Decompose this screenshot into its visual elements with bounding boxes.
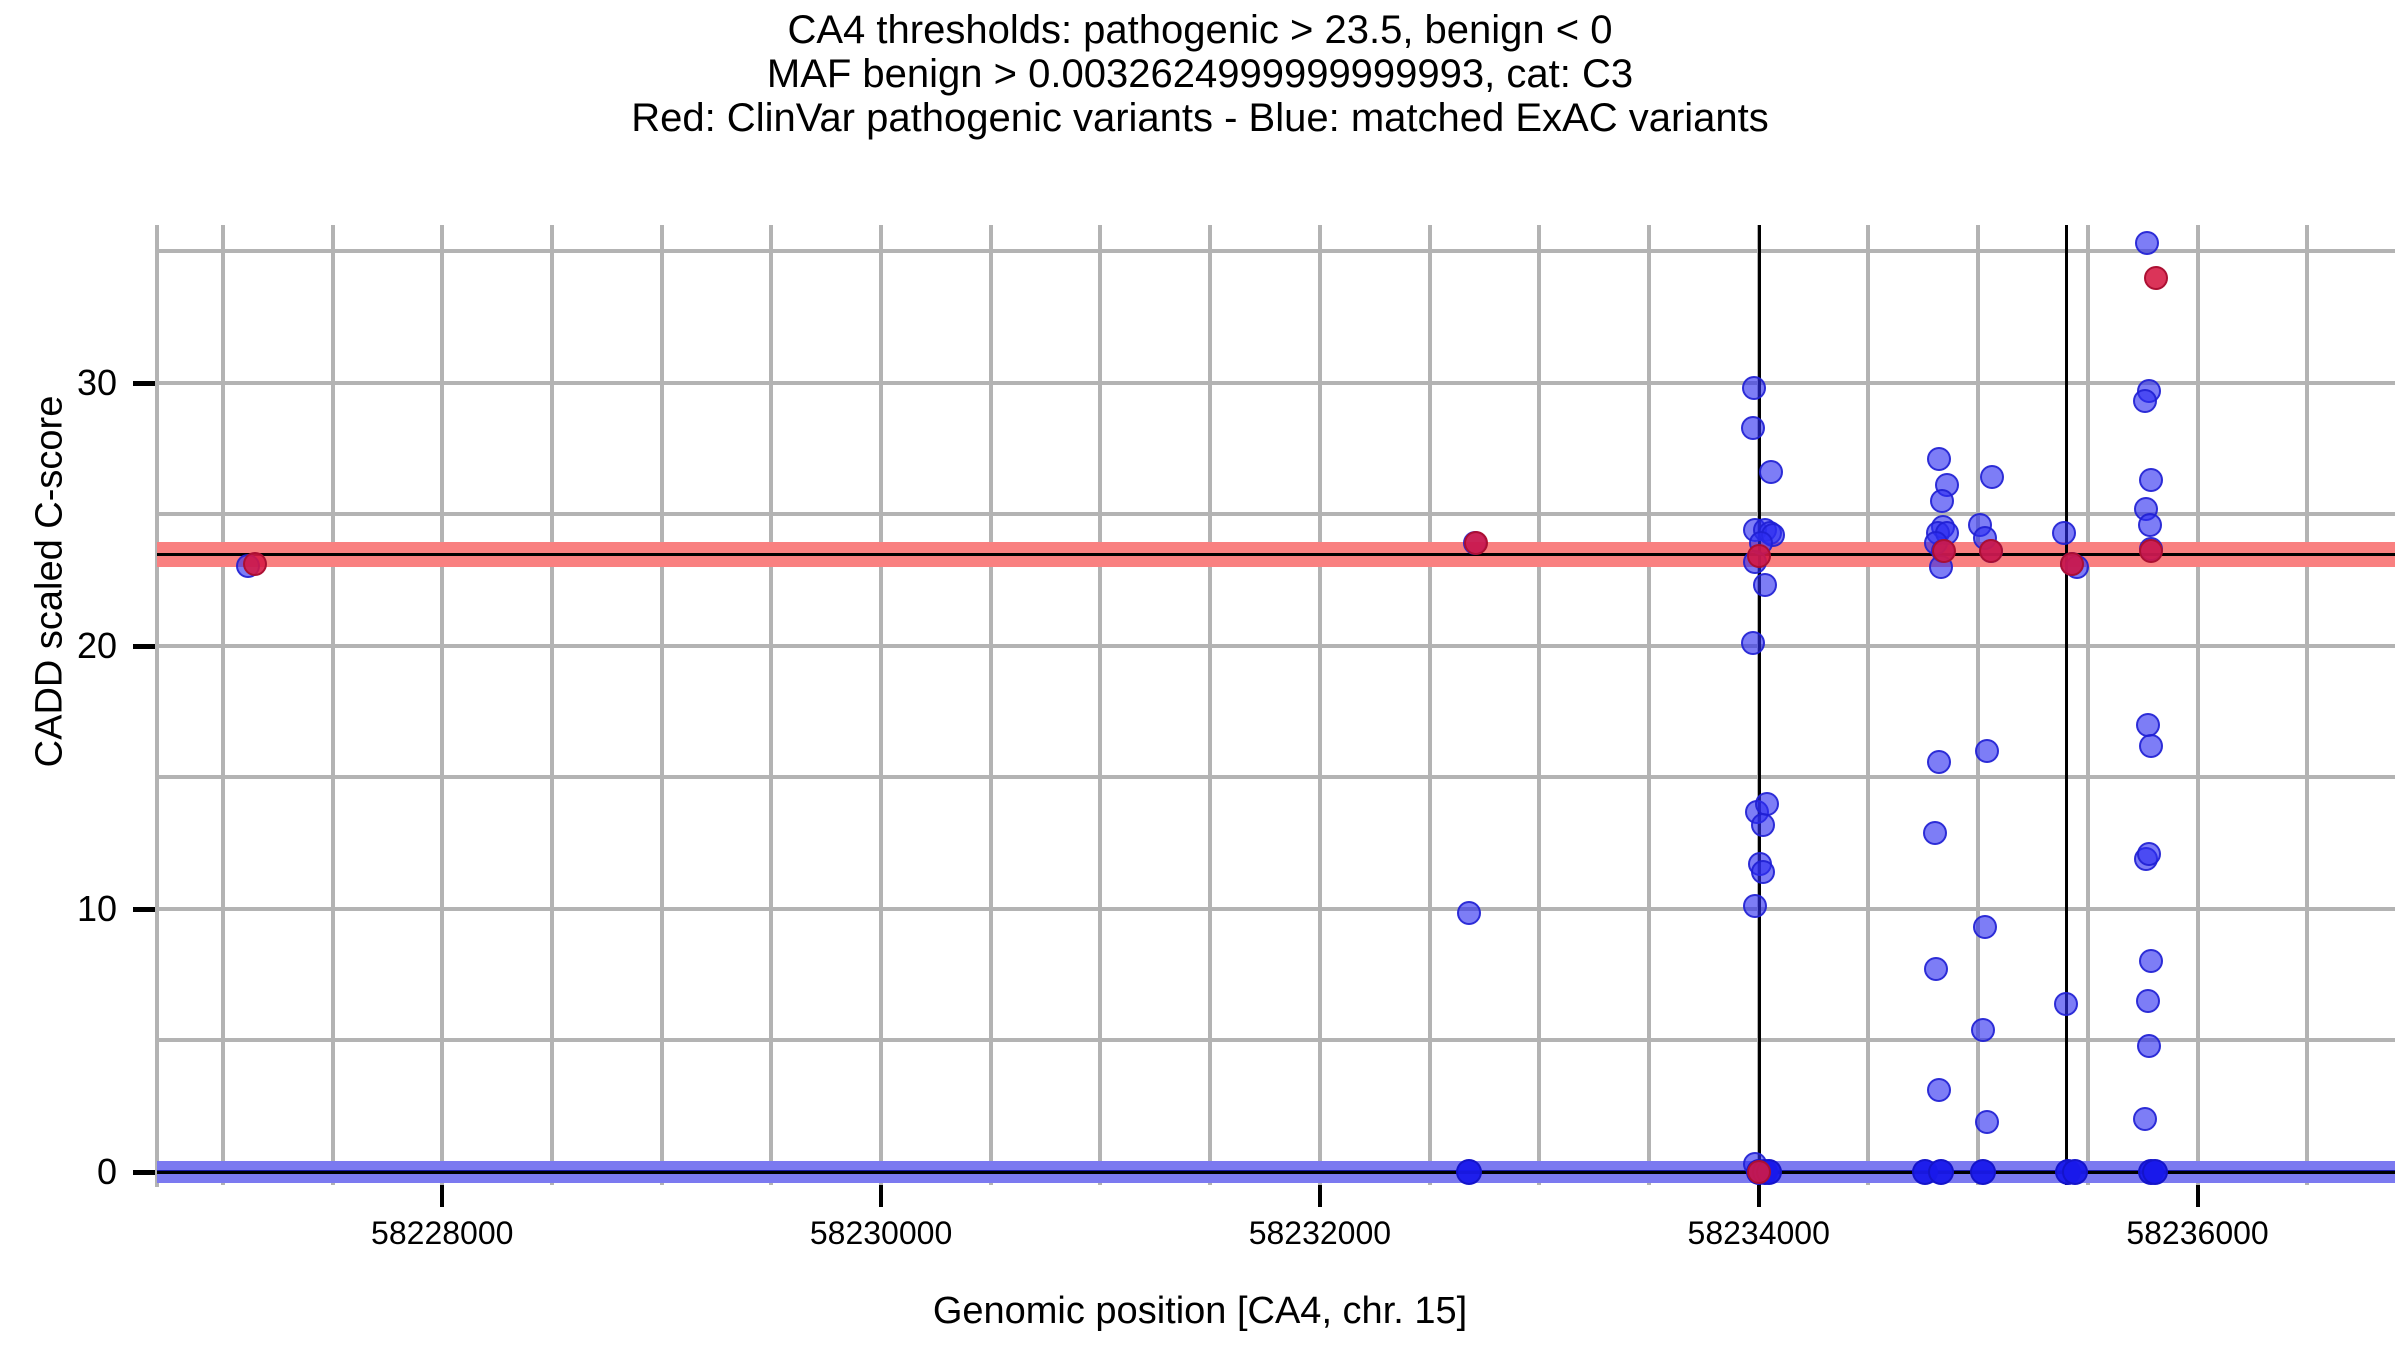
title-line-2: MAF benign > 0.0032624999999999993, cat:… xyxy=(0,52,2400,96)
exac-point xyxy=(1924,957,1948,981)
exac-point xyxy=(1753,573,1777,597)
pathogenic-point xyxy=(1747,1160,1771,1184)
x-tick-label-58230000: 58230000 xyxy=(721,1217,1041,1249)
exac-point xyxy=(1759,460,1783,484)
x-tick-mark-58234000 xyxy=(1757,1185,1761,1207)
exac-point xyxy=(1930,489,1954,513)
x-tick-label-58228000: 58228000 xyxy=(282,1217,602,1249)
x-tick-label-58234000: 58234000 xyxy=(1599,1217,1919,1249)
x-axis-label: Genomic position [CA4, chr. 15] xyxy=(0,1290,2400,1333)
exac-point xyxy=(1928,1159,1954,1185)
y-tick-mark-10 xyxy=(133,907,155,912)
pathogenic-point xyxy=(2144,266,2168,290)
gridline-v-58231000 xyxy=(1098,225,1102,1185)
gridline-v-58228000 xyxy=(440,225,444,1185)
exac-point xyxy=(2138,513,2162,537)
exac-point xyxy=(1971,1018,1995,1042)
y-tick-label-0: 0 xyxy=(0,1154,117,1190)
exac-point xyxy=(2139,949,2163,973)
plot-area xyxy=(157,225,2395,1185)
exac-point xyxy=(2142,1159,2168,1185)
gridline-h-30 xyxy=(157,381,2395,385)
exac-point xyxy=(1927,750,1951,774)
gridline-h-25 xyxy=(157,512,2395,516)
exac-point xyxy=(1457,901,1481,925)
exac-point xyxy=(2054,992,2078,1016)
x-tick-mark-58228000 xyxy=(440,1185,444,1207)
x-tick-mark-58230000 xyxy=(879,1185,883,1207)
exac-point xyxy=(2137,1034,2161,1058)
exac-point xyxy=(1741,631,1765,655)
gridline-h-10 xyxy=(157,907,2395,911)
gridline-v-58233500 xyxy=(1647,225,1651,1185)
exac-point xyxy=(1980,465,2004,489)
x-tick-mark-58236000 xyxy=(2196,1185,2200,1207)
exac-point xyxy=(1975,1110,1999,1134)
exac-point xyxy=(2133,1107,2157,1131)
exac-point xyxy=(1743,894,1767,918)
gridline-v-58230500 xyxy=(989,225,993,1185)
gridline-v-58235500 xyxy=(2086,225,2090,1185)
y-tick-mark-20 xyxy=(133,644,155,649)
exac-point xyxy=(2136,989,2160,1013)
y-tick-mark-30 xyxy=(133,381,155,386)
y-axis-label: CADD scaled C-score xyxy=(29,202,72,962)
exac-point xyxy=(2052,521,2076,545)
pathogenic-point xyxy=(243,552,267,576)
gridline-v-58232500 xyxy=(1428,225,1432,1185)
exac-point xyxy=(1456,1159,1482,1185)
gridline-h-35 xyxy=(157,249,2395,253)
exac-point xyxy=(2139,734,2163,758)
exac-point xyxy=(1975,739,1999,763)
exac-point xyxy=(2136,713,2160,737)
exac-point xyxy=(1741,416,1765,440)
gridline-v-58231500 xyxy=(1208,225,1212,1185)
exac-point xyxy=(1751,860,1775,884)
title-line-3: Red: ClinVar pathogenic variants - Blue:… xyxy=(0,96,2400,140)
refline-h-23.5 xyxy=(157,553,2395,556)
gridline-v-58229000 xyxy=(660,225,664,1185)
exac-point xyxy=(1742,376,1766,400)
pathogenic-point xyxy=(1747,544,1771,568)
gridline-v-58228500 xyxy=(550,225,554,1185)
x-tick-label-58232000: 58232000 xyxy=(1160,1217,1480,1249)
exac-point xyxy=(1751,813,1775,837)
y-tick-mark-0 xyxy=(133,1170,155,1175)
gridline-h-15 xyxy=(157,775,2395,779)
exac-point xyxy=(1927,1078,1951,1102)
gridline-h-20 xyxy=(157,644,2395,648)
gridline-v-58229500 xyxy=(769,225,773,1185)
refline-v-58235400 xyxy=(2065,225,2068,1185)
exac-point xyxy=(1973,915,1997,939)
gridline-h-5 xyxy=(157,1038,2395,1042)
gridline-v-58232000 xyxy=(1318,225,1322,1185)
gridline-v-58236500 xyxy=(2305,225,2309,1185)
refline-v-58234000 xyxy=(1758,225,1761,1185)
title-line-1: CA4 thresholds: pathogenic > 23.5, benig… xyxy=(0,8,2400,52)
exac-point xyxy=(2133,389,2157,413)
scatter-plot-figure: CA4 thresholds: pathogenic > 23.5, benig… xyxy=(0,0,2400,1350)
exac-point xyxy=(2139,468,2163,492)
figure-title: CA4 thresholds: pathogenic > 23.5, benig… xyxy=(0,8,2400,140)
x-tick-mark-58232000 xyxy=(1318,1185,1322,1207)
gridline-v-58233000 xyxy=(1537,225,1541,1185)
exac-point xyxy=(1755,792,1779,816)
x-tick-label-58236000: 58236000 xyxy=(2038,1217,2358,1249)
exac-point xyxy=(1923,821,1947,845)
gridline-v-58227000 xyxy=(221,225,225,1185)
exac-point xyxy=(1970,1159,1996,1185)
gridline-v-58227500 xyxy=(331,225,335,1185)
gridline-v-58234500 xyxy=(1866,225,1870,1185)
exac-point xyxy=(2137,842,2161,866)
exac-point xyxy=(1927,447,1951,471)
pathogenic-point xyxy=(1464,531,1488,555)
gridline-v-58236000 xyxy=(2196,225,2200,1185)
exac-point xyxy=(2062,1159,2088,1185)
gridline-v-58230000 xyxy=(879,225,883,1185)
